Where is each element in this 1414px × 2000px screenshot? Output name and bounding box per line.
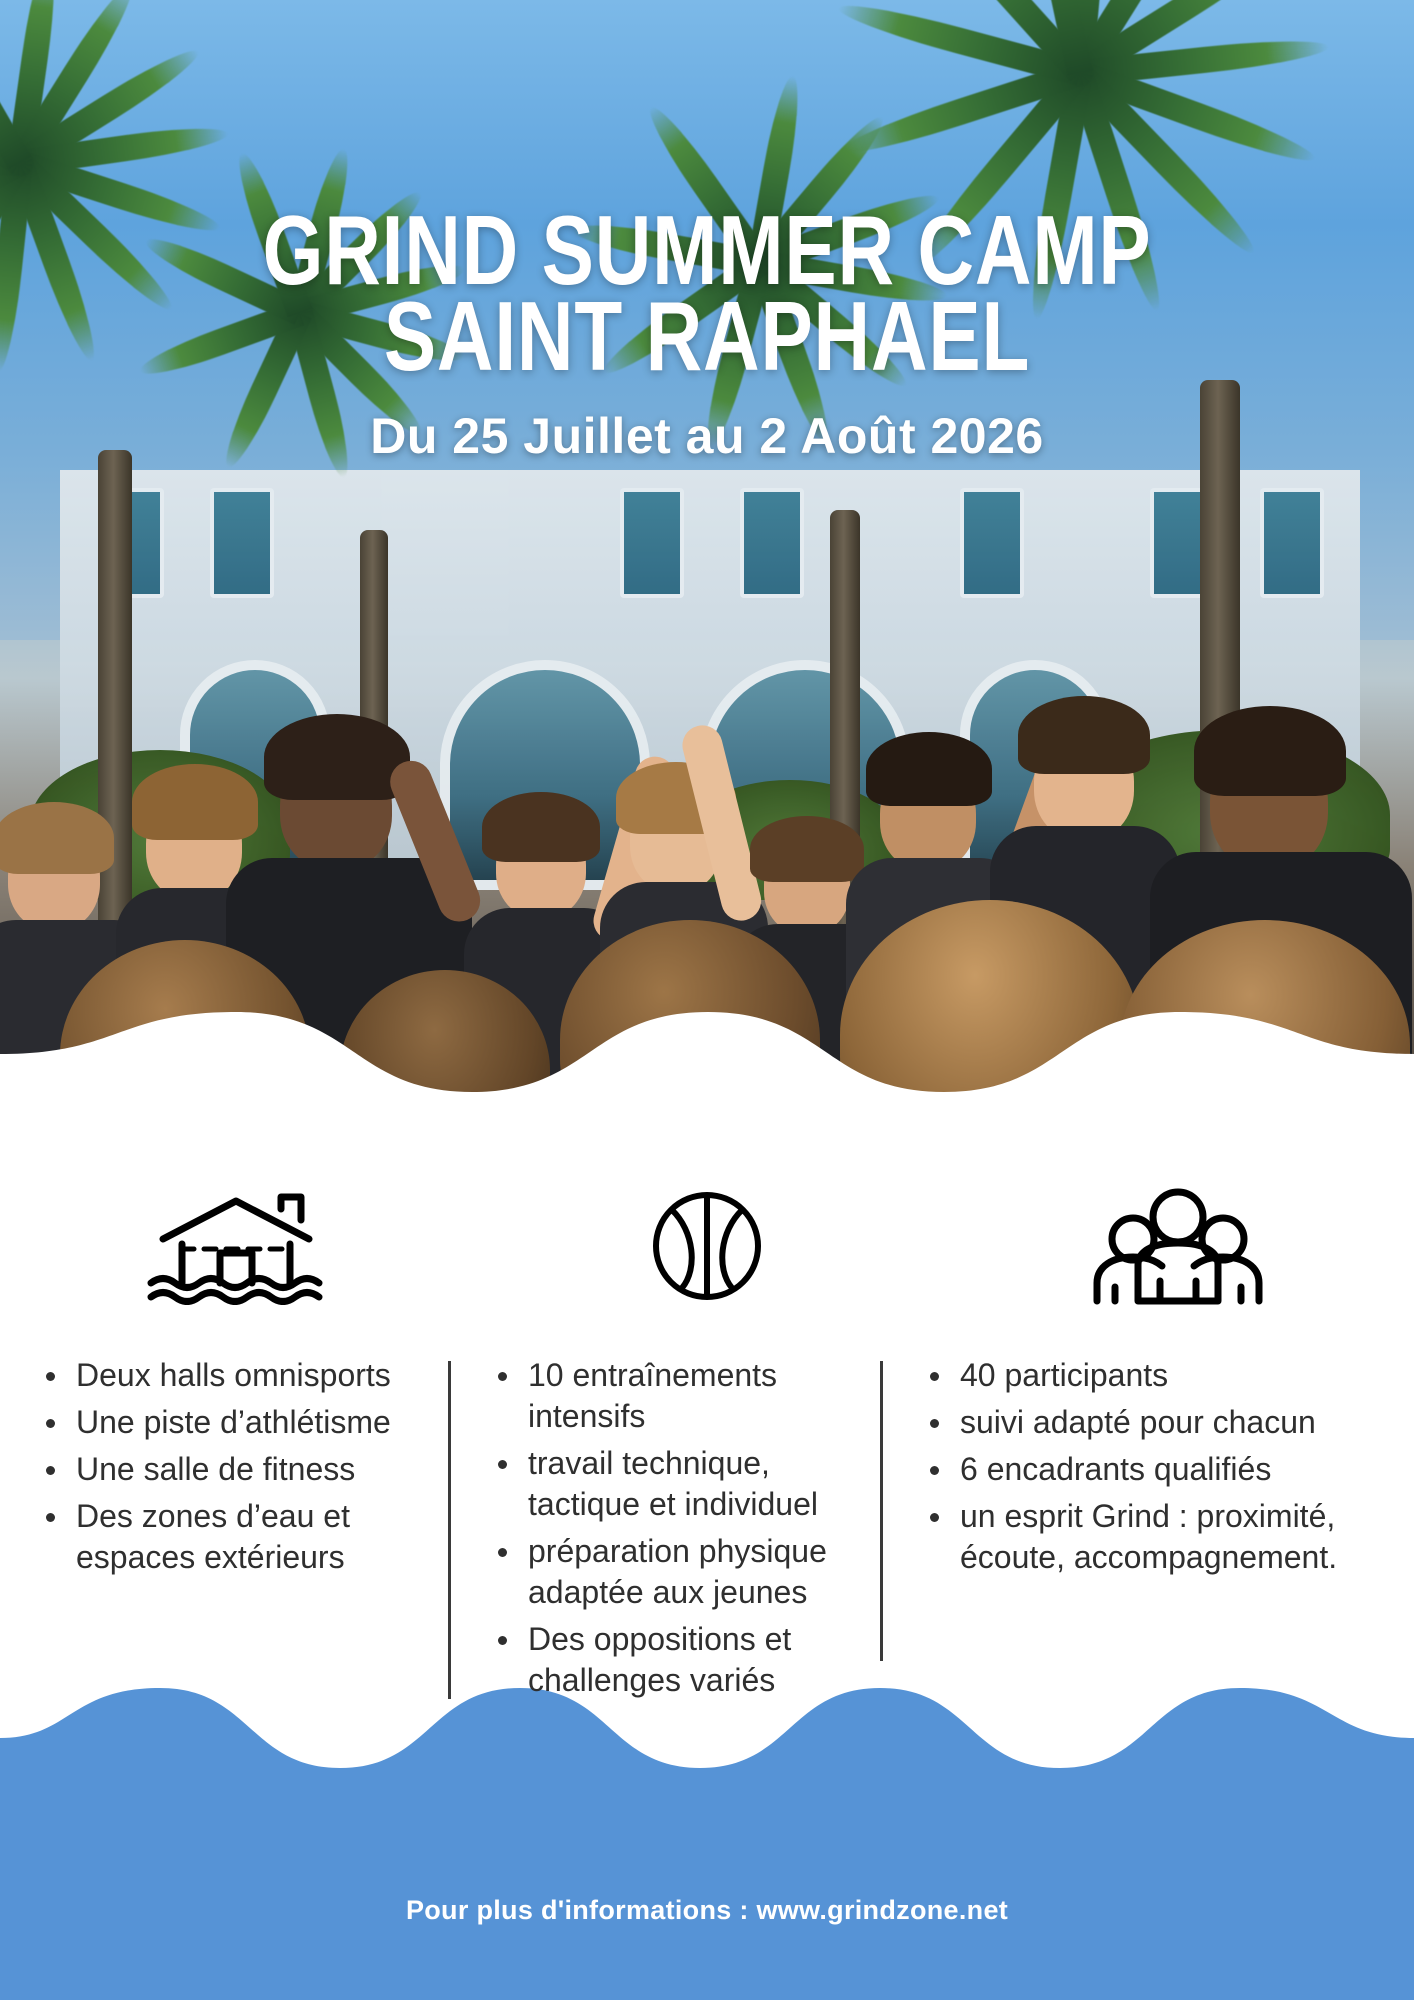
training-list: 10 entraînements intensifs travail techn… <box>488 1355 870 1701</box>
hero-photo <box>0 0 1414 1170</box>
list-item: 40 participants <box>920 1355 1384 1396</box>
icon-row <box>0 1185 1414 1305</box>
column-divider-1 <box>448 1361 451 1699</box>
group-people-icon <box>1085 1187 1271 1305</box>
list-item: 10 entraînements intensifs <box>488 1355 870 1437</box>
date-range: Du 25 Juillet au 2 Août 2026 <box>0 407 1414 465</box>
wave-divider-bottom <box>0 1660 1414 2000</box>
column-facilities: Deux halls omnisports Une piste d’athlét… <box>0 1355 448 1707</box>
icon-cell-facilities <box>0 1185 471 1305</box>
wave-divider-top <box>0 1002 1414 1170</box>
basketball-icon <box>648 1187 766 1305</box>
icon-cell-training <box>471 1185 942 1305</box>
feature-columns: Deux halls omnisports Une piste d’athlét… <box>0 1355 1414 1707</box>
column-training: 10 entraînements intensifs travail techn… <box>448 1355 880 1707</box>
list-item: préparation physique adaptée aux jeunes <box>488 1531 870 1613</box>
list-item: suivi adapté pour chacun <box>920 1402 1384 1443</box>
list-item: Deux halls omnisports <box>36 1355 432 1396</box>
facilities-list: Deux halls omnisports Une piste d’athlét… <box>36 1355 432 1578</box>
page-title-line2: SAINT RAPHAEL <box>141 291 1272 381</box>
poster-root: GRIND SUMMER CAMP SAINT RAPHAEL Du 25 Ju… <box>0 0 1414 2000</box>
footer-contact: Pour plus d'informations : www.grindzone… <box>0 1895 1414 1926</box>
participants-list: 40 participants suivi adapté pour chacun… <box>920 1355 1384 1578</box>
title-block: GRIND SUMMER CAMP SAINT RAPHAEL Du 25 Ju… <box>0 205 1414 465</box>
list-item: Des oppositions et challenges variés <box>488 1619 870 1701</box>
column-divider-2 <box>880 1361 883 1661</box>
column-participants: 40 participants suivi adapté pour chacun… <box>880 1355 1414 1707</box>
icon-cell-participants <box>943 1185 1414 1305</box>
list-item: Une piste d’athlétisme <box>36 1402 432 1443</box>
list-item: Une salle de fitness <box>36 1449 432 1490</box>
list-item: un esprit Grind : proximité, écoute, acc… <box>920 1496 1384 1578</box>
list-item: Des zones d’eau et espaces extérieurs <box>36 1496 432 1578</box>
list-item: travail technique, tactique et individue… <box>488 1443 870 1525</box>
list-item: 6 encadrants qualifiés <box>920 1449 1384 1490</box>
house-water-icon <box>141 1187 331 1305</box>
